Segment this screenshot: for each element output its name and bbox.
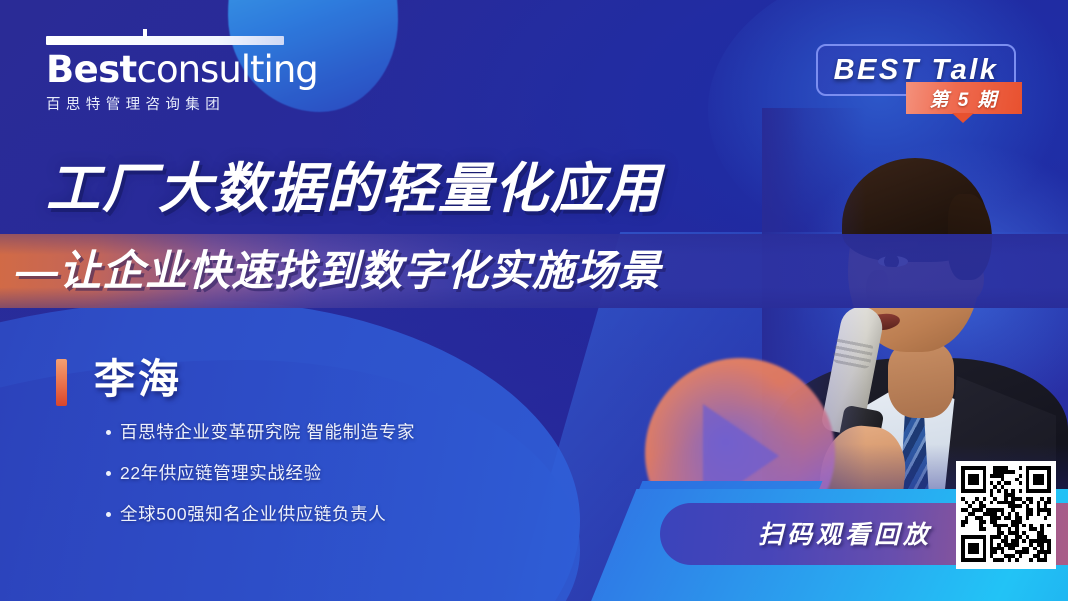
logo-wordmark: Bestconsulting [46,49,290,91]
logo-word-consulting: consulting [137,48,318,91]
episode-label: 第 5 期 [906,82,1022,114]
speaker-name: 李海 [94,352,182,406]
scan-cta-text: 扫码观看回放 [758,520,932,550]
logo-bar-icon [46,36,284,45]
logo-tick-icon [143,29,147,38]
logo-chinese-name: 百思特管理咨询集团 [46,93,290,114]
bullet-dot-icon [106,430,111,435]
bullet-dot-icon [106,471,111,476]
qr-code-matrix [961,466,1051,562]
logo-word-best: Best [46,48,137,91]
qr-code[interactable] [956,461,1056,569]
list-item: 全球500强知名企业供应链负责人 [106,502,415,526]
list-item: 百思特企业变革研究院 智能制造专家 [106,420,415,444]
best-talk-badge: BEST Talk 第 5 期 [816,44,1022,116]
bullet-dot-icon [106,512,111,517]
page-title: 工厂大数据的轻量化应用 [46,158,662,220]
credential-text: 百思特企业变革研究院 智能制造专家 [120,420,415,444]
list-item: 22年供应链管理实战经验 [106,461,415,485]
episode-ribbon-notch-icon [952,113,974,123]
credential-text: 22年供应链管理实战经验 [120,461,322,485]
speaker-credentials: 百思特企业变革研究院 智能制造专家 22年供应链管理实战经验 全球500强知名企… [106,420,415,543]
page-subtitle: —让企业快速找到数字化实施场景 [16,244,661,298]
speaker-name-accent-bar [56,359,67,406]
webinar-poster: Bestconsulting 百思特管理咨询集团 BEST Talk 第 5 期… [0,0,1068,601]
credential-text: 全球500强知名企业供应链负责人 [120,502,386,526]
brand-logo: Bestconsulting 百思特管理咨询集团 [46,36,290,114]
